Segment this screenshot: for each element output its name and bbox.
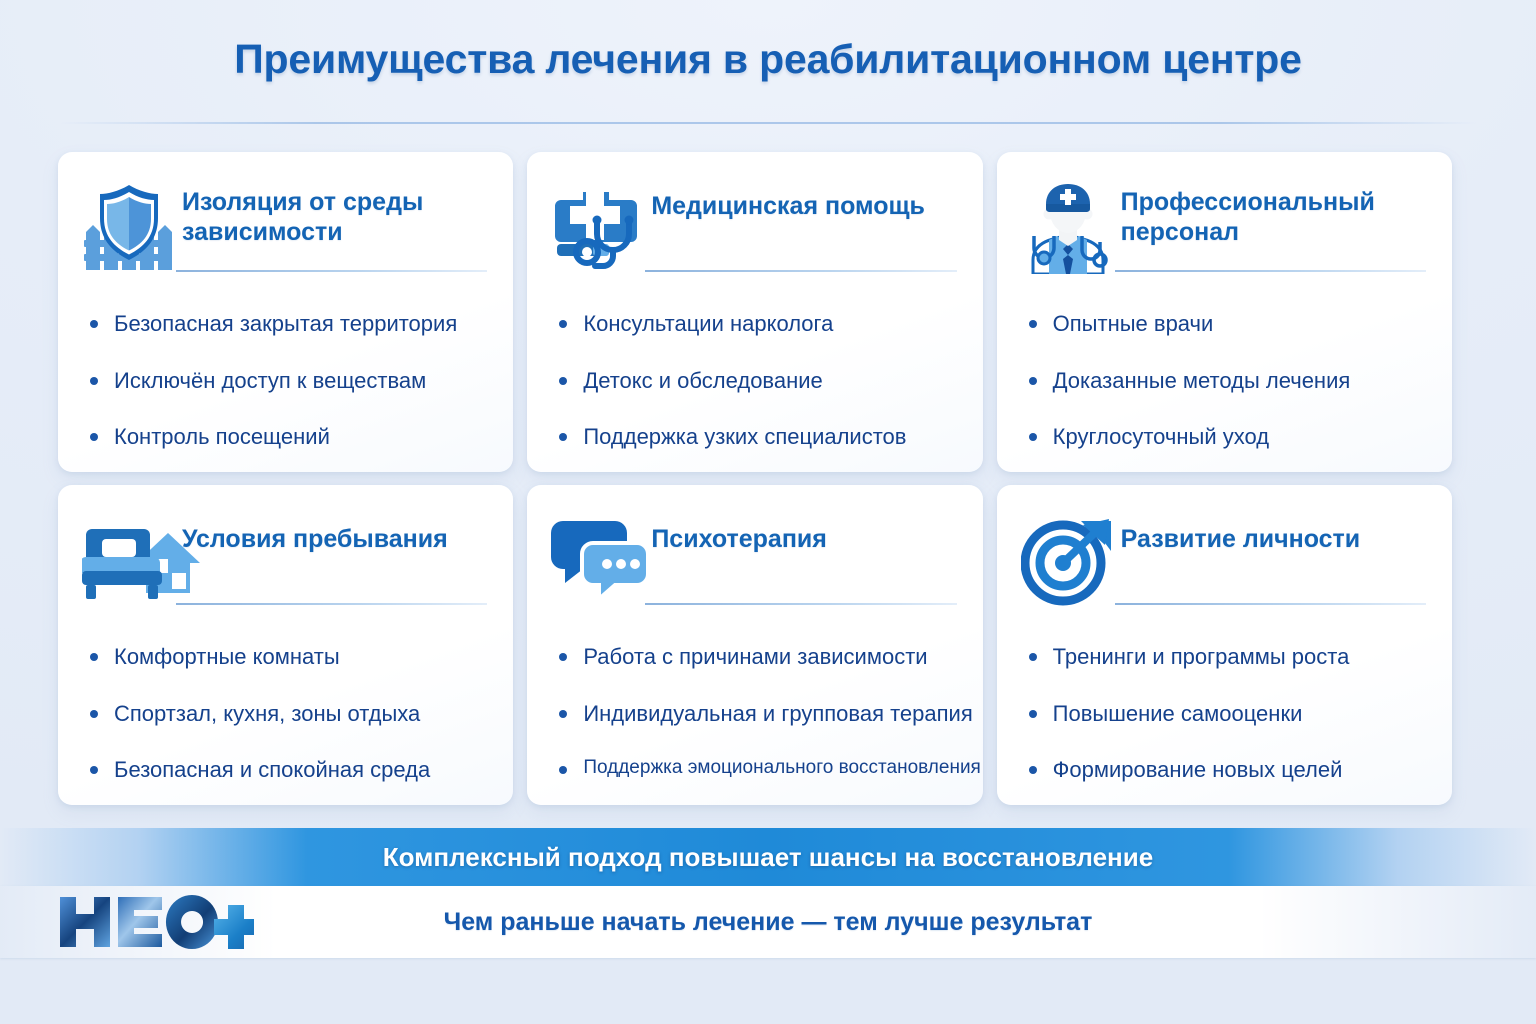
list-item: Безопасная закрытая территория (88, 310, 487, 338)
card-professional-staff[interactable]: Профессиональный персонал Опытные врачи … (997, 152, 1452, 472)
title-divider (60, 122, 1476, 124)
bullet-list: Безопасная закрытая территория Исключён … (58, 270, 513, 451)
card-personal-development[interactable]: Развитие личности Тренинги и программы р… (997, 485, 1452, 805)
bullet-list: Тренинги и программы роста Повышение сам… (997, 603, 1452, 784)
card-isolation[interactable]: Изоляция от среды зависимости Безопасная… (58, 152, 513, 472)
card-header-rule (1115, 270, 1426, 272)
list-item: Формирование новых целей (1027, 756, 1426, 784)
list-item: Работа с причинами зависимости (557, 643, 956, 671)
card-header-rule (645, 603, 956, 605)
card-title: Психотерапия (651, 515, 827, 555)
card-title: Условия пребывания (182, 515, 448, 555)
footer-tagline: Чем раньше начать лечение — тем лучше ре… (444, 908, 1093, 937)
doctor-icon (1021, 182, 1115, 274)
card-header: Медицинская помощь (527, 152, 982, 270)
card-header-rule (1115, 603, 1426, 605)
list-item: Контроль посещений (88, 423, 487, 451)
card-header: Условия пребывания (58, 485, 513, 603)
card-psychotherapy[interactable]: Психотерапия Работа с причинами зависимо… (527, 485, 982, 805)
card-living-conditions[interactable]: Условия пребывания Комфортные комнаты Сп… (58, 485, 513, 805)
shield-fence-icon (82, 182, 176, 274)
target-arrow-icon (1021, 515, 1115, 607)
card-header: Изоляция от среды зависимости (58, 152, 513, 270)
list-item: Поддержка узких специалистов (557, 423, 956, 451)
list-item: Индивидуальная и групповая терапия (557, 700, 956, 728)
footer-banner-text: Комплексный подход повышает шансы на вос… (383, 842, 1153, 873)
list-item: Доказанные методы лечения (1027, 367, 1426, 395)
bullet-list: Консультации нарколога Детокс и обследов… (527, 270, 982, 451)
logo-neo-plus-icon (58, 891, 254, 953)
card-header: Профессиональный персонал (997, 152, 1452, 270)
bullet-list: Комфортные комнаты Спортзал, кухня, зоны… (58, 603, 513, 784)
list-item: Тренинги и программы роста (1027, 643, 1426, 671)
list-item: Исключён доступ к веществам (88, 367, 487, 395)
card-header-rule (176, 270, 487, 272)
medical-cross-stethoscope-icon (551, 182, 645, 274)
speech-bubbles-icon (551, 515, 645, 607)
card-title: Медицинская помощь (651, 182, 925, 222)
card-header: Развитие личности (997, 485, 1452, 603)
bullet-list: Опытные врачи Доказанные методы лечения … (997, 270, 1452, 451)
list-item: Детокс и обследование (557, 367, 956, 395)
list-item: Поддержка эмоционального восстановления (557, 756, 956, 780)
list-item: Комфортные комнаты (88, 643, 487, 671)
bullet-list: Работа с причинами зависимости Индивидуа… (527, 603, 982, 780)
card-title: Развитие личности (1121, 515, 1361, 555)
list-item: Консультации нарколога (557, 310, 956, 338)
card-header-rule (176, 603, 487, 605)
card-medical-help[interactable]: Медицинская помощь Консультации нарколог… (527, 152, 982, 472)
brand-logo[interactable] (58, 886, 254, 958)
list-item: Круглосуточный уход (1027, 423, 1426, 451)
card-header: Психотерапия (527, 485, 982, 603)
benefits-grid: Изоляция от среды зависимости Безопасная… (58, 152, 1452, 805)
page-title-wrap: Преимущества лечения в реабилитационном … (0, 36, 1536, 83)
card-header-rule (645, 270, 956, 272)
infographic-page: Преимущества лечения в реабилитационном … (0, 0, 1536, 1024)
card-title: Изоляция от среды зависимости (182, 182, 487, 247)
card-title: Профессиональный персонал (1121, 182, 1426, 247)
list-item: Спортзал, кухня, зоны отдыха (88, 700, 487, 728)
bed-house-icon (82, 515, 176, 607)
page-title: Преимущества лечения в реабилитационном … (0, 36, 1536, 83)
list-item: Повышение самооценки (1027, 700, 1426, 728)
list-item: Опытные врачи (1027, 310, 1426, 338)
list-item: Безопасная и спокойная среда (88, 756, 487, 784)
footer-banner: Комплексный подход повышает шансы на вос… (0, 828, 1536, 886)
